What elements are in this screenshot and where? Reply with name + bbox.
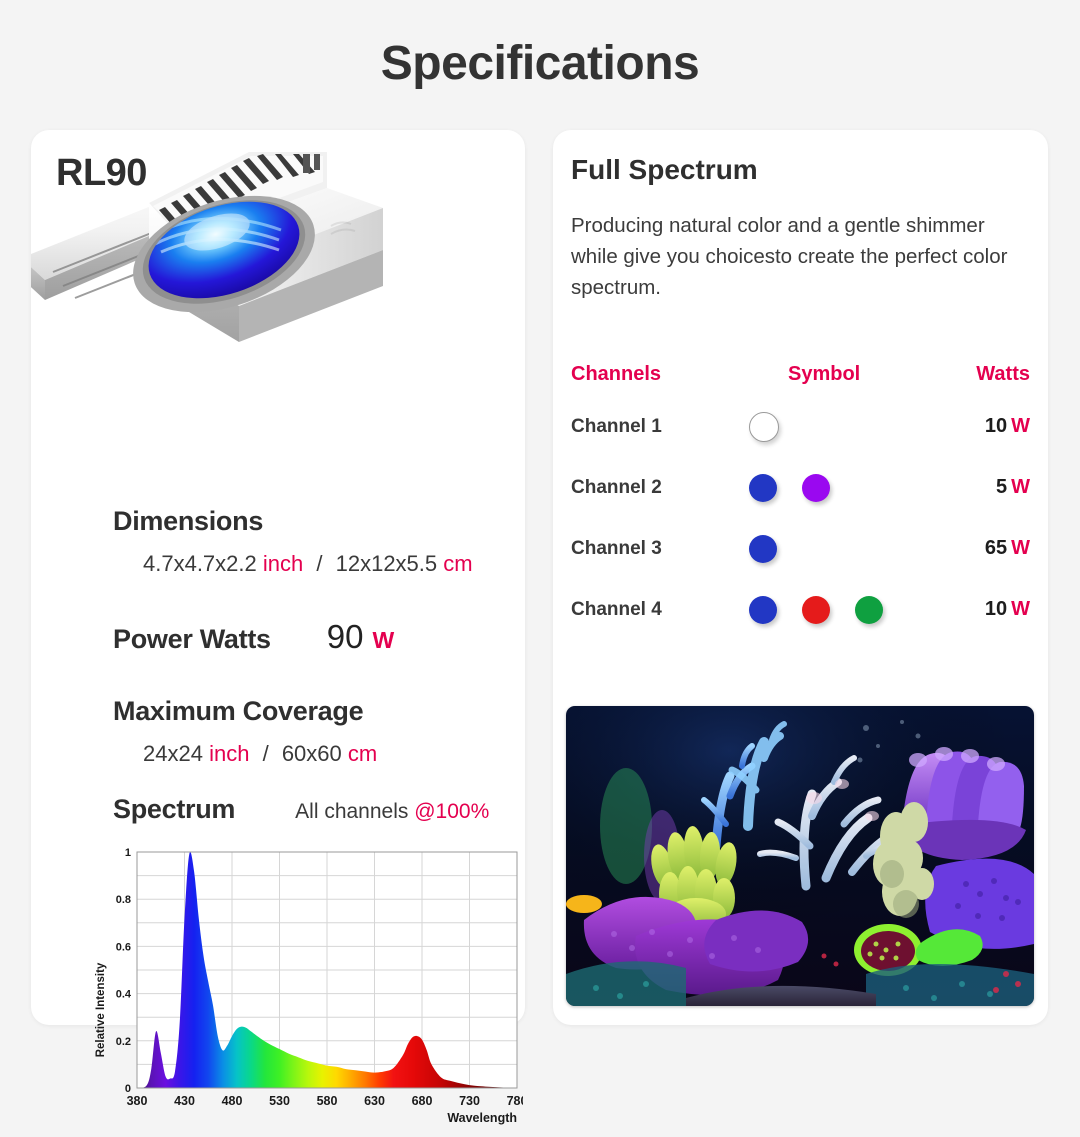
coverage-imperial-unit: inch	[209, 741, 249, 766]
channel-label: Channel 4	[553, 599, 749, 621]
x-tick-label: 580	[317, 1094, 338, 1108]
spectrum-note-prefix: All channels	[295, 800, 414, 823]
full-spectrum-card: Full Spectrum Producing natural color an…	[553, 130, 1048, 1025]
coverage-separator: /	[256, 741, 276, 766]
full-spectrum-description: Producing natural color and a gentle shi…	[571, 210, 1037, 303]
coverage-value: 24x24 inch / 60x60 cm	[143, 741, 607, 767]
page-title: Specifications	[0, 36, 1080, 91]
channel-watts-unit: W	[1011, 415, 1030, 437]
spectrum-plot: 38043048053058063068073078000.20.40.60.8…	[93, 842, 523, 1132]
specs-card: RL90 Dimensions 4.7x4.7x2.2 inch / 12x12…	[31, 130, 525, 1025]
y-tick-label: 0.8	[116, 894, 131, 906]
table-row: Channel 110W	[553, 396, 1048, 457]
power-watts-label: Power Watts	[113, 624, 271, 655]
y-axis-label: Relative Intensity	[95, 962, 107, 1057]
model-name: RL90	[56, 152, 147, 195]
full-spectrum-title: Full Spectrum	[571, 154, 758, 186]
channel-label: Channel 3	[553, 538, 749, 560]
coverage-imperial-value: 24x24	[143, 741, 203, 766]
channel-symbols	[749, 596, 945, 624]
y-tick-label: 0.4	[116, 989, 132, 1001]
x-tick-label: 780	[507, 1094, 523, 1108]
channel-watts: 10W	[945, 598, 1048, 621]
channel-watts-unit: W	[1011, 598, 1030, 620]
dimensions-label: Dimensions	[113, 506, 607, 537]
y-tick-label: 1	[125, 847, 131, 859]
white-led-dot	[749, 412, 779, 442]
red-led-dot	[802, 596, 830, 624]
x-tick-label: 380	[127, 1094, 148, 1108]
x-axis-label: Wavelength	[447, 1111, 517, 1125]
blue-led-dot	[749, 535, 777, 563]
channel-symbols	[749, 412, 945, 442]
spectrum-note: All channels @100%	[295, 800, 489, 824]
channel-watts-value: 5	[996, 476, 1007, 498]
dimensions-value: 4.7x4.7x2.2 inch / 12x12x5.5 cm	[143, 551, 607, 577]
channel-symbols	[749, 474, 945, 502]
dimensions-separator: /	[309, 551, 329, 576]
blue-led-dot	[749, 596, 777, 624]
y-tick-label: 0.6	[116, 941, 131, 953]
spectrum-note-value: @100%	[414, 800, 489, 823]
table-header-row: Channels Symbol Watts	[553, 352, 1048, 396]
channel-watts-value: 10	[985, 415, 1007, 437]
table-row: Channel 410W	[553, 579, 1048, 640]
blue-led-dot	[749, 474, 777, 502]
x-tick-label: 680	[412, 1094, 433, 1108]
spectrum-block: Spectrum All channels @100%	[113, 794, 525, 825]
power-watts-block: Power Watts 90 W	[113, 618, 607, 656]
reef-aquarium-photo	[566, 706, 1034, 1006]
channel-watts-value: 10	[985, 598, 1007, 620]
header-symbol: Symbol	[742, 363, 976, 386]
channel-watts-unit: W	[1011, 537, 1030, 559]
channel-watts-unit: W	[1011, 476, 1030, 498]
y-tick-label: 0	[125, 1083, 131, 1095]
table-row: Channel 25W	[553, 457, 1048, 518]
channel-label: Channel 1	[553, 416, 749, 438]
dimensions-imperial-unit: inch	[263, 551, 303, 576]
coverage-block: Maximum Coverage 24x24 inch / 60x60 cm	[113, 696, 607, 767]
channel-watts: 65W	[945, 537, 1048, 560]
dimensions-metric-value: 12x12x5.5	[336, 551, 438, 576]
x-tick-label: 430	[174, 1094, 195, 1108]
y-tick-label: 0.2	[116, 1036, 131, 1048]
x-tick-label: 530	[269, 1094, 290, 1108]
dimensions-block: Dimensions 4.7x4.7x2.2 inch / 12x12x5.5 …	[113, 506, 607, 577]
spectrum-label: Spectrum	[113, 794, 235, 825]
green-led-dot	[855, 596, 883, 624]
channel-watts: 10W	[945, 415, 1048, 438]
coverage-metric-unit: cm	[348, 741, 377, 766]
channels-table: Channels Symbol Watts Channel 110WChanne…	[553, 352, 1048, 640]
header-watts: Watts	[976, 363, 1048, 386]
channel-label: Channel 2	[553, 477, 749, 499]
reef-scene-illustration	[566, 706, 1034, 1006]
dimensions-imperial-value: 4.7x4.7x2.2	[143, 551, 257, 576]
channel-watts-value: 65	[985, 537, 1007, 559]
power-watts-unit: W	[372, 627, 394, 654]
dimensions-metric-unit: cm	[443, 551, 472, 576]
coverage-label: Maximum Coverage	[113, 696, 607, 727]
header-channels: Channels	[553, 363, 742, 386]
spectrum-chart: 38043048053058063068073078000.20.40.60.8…	[93, 842, 523, 1132]
x-tick-label: 630	[364, 1094, 385, 1108]
x-tick-label: 730	[459, 1094, 480, 1108]
channel-symbols	[749, 535, 945, 563]
x-tick-label: 480	[222, 1094, 243, 1108]
violet-led-dot	[802, 474, 830, 502]
power-watts-value: 90	[327, 618, 364, 656]
coverage-metric-value: 60x60	[282, 741, 342, 766]
channel-watts: 5W	[945, 476, 1048, 499]
table-row: Channel 365W	[553, 518, 1048, 579]
